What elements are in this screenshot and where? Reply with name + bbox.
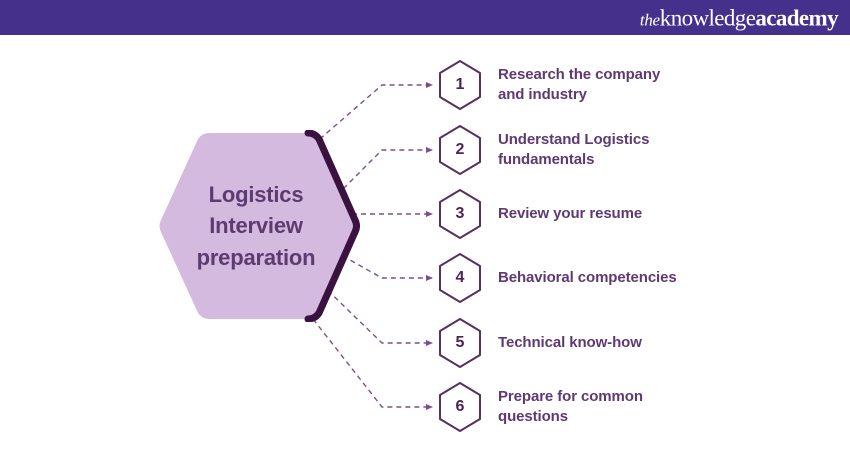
step-hexagon-5: 5: [437, 317, 483, 369]
step-label-4: Behavioral competencies: [498, 268, 677, 288]
hub-hexagon: Logistics Interview preparation: [152, 130, 367, 322]
step-hexagon-2: 2: [437, 124, 483, 176]
connector-lines: [0, 35, 850, 450]
step-row-6[interactable]: 6 Prepare for common questions: [437, 379, 643, 435]
step-label-5: Technical know-how: [498, 333, 642, 353]
step-hexagon-4: 4: [437, 252, 483, 304]
step-row-3[interactable]: 3 Review your resume: [437, 186, 642, 242]
brand-the-text: the: [640, 11, 660, 28]
step-label-6: Prepare for common questions: [498, 387, 643, 428]
brand-academy-text: academy: [755, 6, 838, 29]
diagram-canvas: Logistics Interview preparation 1 Resear…: [0, 35, 850, 450]
step-number-3: 3: [437, 188, 483, 240]
step-number-6: 6: [437, 381, 483, 433]
step-label-2: Understand Logistics fundamentals: [498, 130, 649, 171]
hub-hexagon-label: Logistics Interview preparation: [170, 130, 342, 322]
step-number-2: 2: [437, 124, 483, 176]
header-bar: theknowledgeacademy: [0, 0, 850, 35]
step-label-1: Research the company and industry: [498, 65, 660, 106]
step-row-2[interactable]: 2 Understand Logistics fundamentals: [437, 122, 649, 178]
brand-logo: theknowledgeacademy: [640, 6, 838, 29]
step-label-3: Review your resume: [498, 204, 642, 224]
step-row-5[interactable]: 5 Technical know-how: [437, 315, 642, 371]
step-hexagon-1: 1: [437, 59, 483, 111]
step-number-4: 4: [437, 252, 483, 304]
step-hexagon-6: 6: [437, 381, 483, 433]
brand-knowledge-text: knowledge: [660, 6, 756, 29]
step-row-1[interactable]: 1 Research the company and industry: [437, 57, 660, 113]
step-row-4[interactable]: 4 Behavioral competencies: [437, 250, 677, 306]
step-number-5: 5: [437, 317, 483, 369]
step-number-1: 1: [437, 59, 483, 111]
step-hexagon-3: 3: [437, 188, 483, 240]
